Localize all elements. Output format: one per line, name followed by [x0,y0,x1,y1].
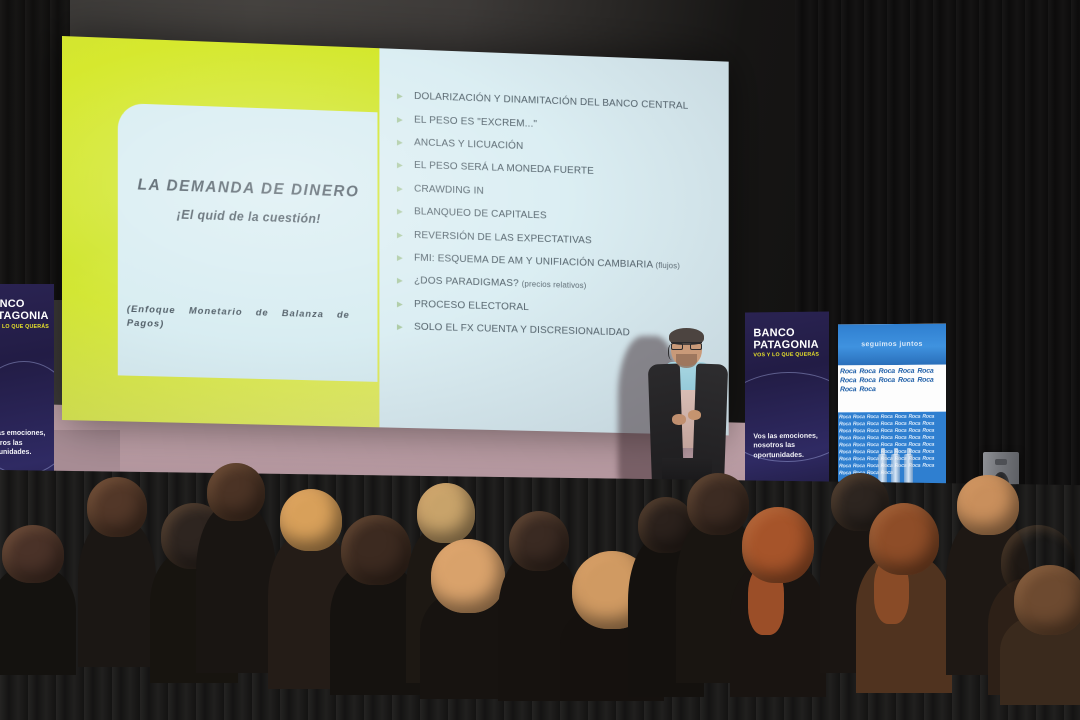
bullet-arrow-icon [397,140,403,146]
audience-member-body [0,567,76,675]
roca-logo: Roca [853,428,865,434]
bullet-text: PROCESO ELECTORAL [414,299,529,313]
patagonia-tagline: VOS Y LO QUE QUERÁS [753,353,819,359]
roca-logo: Roca [867,449,879,455]
bullet-arrow-icon [397,163,403,169]
slide-bullet-item: ¿DOS PARADIGMAS? (precios relativos) [397,275,719,295]
roca-logo: Roca [908,414,920,420]
roca-logo: Roca [898,377,914,384]
roca-logo: Roca [867,421,879,427]
bullet-text: SOLO EL FX CUENTA Y DISCRESIONALIDAD [414,322,630,339]
bullet-text: EL PESO SERÁ LA MONEDA FUERTE [414,160,594,177]
roca-logo: Roca [881,442,893,448]
audience-member [196,463,276,673]
roca-logo: Roca [881,414,893,420]
slide-bullet-item: FMI: ESQUEMA DE AM Y UNIFIACIÓN CAMBIARI… [397,252,719,272]
slide-title-area: LA DEMANDA DE DINERO ¡El quid de la cues… [123,176,373,228]
audience-member-head [417,483,475,543]
roca-logo: Roca [853,421,865,427]
patagonia-tagline: VOS Y LO QUE QUERÁS [0,325,49,331]
roca-logo-grid-white: RocaRocaRocaRocaRocaRocaRocaRocaRocaRoca… [838,365,946,412]
left-curtain [0,0,70,300]
bullet-arrow-icon [397,324,403,330]
bullet-arrow-icon [397,186,403,192]
roca-logo: Roca [922,420,934,426]
presentation-photo-scene: LA DEMANDA DE DINERO ¡El quid de la cues… [0,0,1080,720]
roca-logo: Roca [859,368,875,375]
bullet-arrow-icon [397,117,403,123]
roca-logo: Roca [853,414,865,420]
presenter-beard [676,354,697,368]
audience-member [856,503,952,693]
roca-logo: Roca [908,421,920,427]
bullet-subtext: (flujos) [656,261,681,271]
slide-title-panel [118,103,378,382]
bullet-text: DOLARIZACIÓN Y DINAMITACIÓN DEL BANCO CE… [414,91,688,112]
roca-logo: Roca [881,421,893,427]
roca-logo: Roca [859,386,875,393]
roca-logo: Roca [895,414,907,420]
roca-logo: Roca [881,435,893,441]
roca-logo: Roca [867,414,879,420]
audience [0,455,1080,720]
roca-logo: Roca [840,387,856,394]
audience-member-body [78,520,156,667]
bullet-arrow-icon [397,209,403,215]
slide-bullet-item: CRAWDING IN [397,183,719,204]
slide-bullet-item: BLANQUEO DE CAPITALES [397,206,719,227]
patagonia-message: Vos las emociones, nosotros las oportuni… [0,429,49,457]
roca-logo: Roca [895,435,907,441]
roca-logo: Roca [867,442,879,448]
bullet-text: ANCLAS Y LICUACIÓN [414,137,523,152]
audience-member [1000,565,1080,705]
audience-member [0,525,76,675]
roca-logo: Roca [867,428,879,434]
roca-banner-header: seguimos juntos [838,324,946,366]
roca-logo: Roca [922,413,934,419]
bullet-subtext: (precios relativos) [522,280,587,291]
roca-logo: Roca [867,435,879,441]
audience-member-head [341,515,411,585]
slide-bullet-item: ANCLAS Y LICUACIÓN [397,137,719,159]
roca-logo: Roca [839,414,851,420]
roca-logo: Roca [922,441,934,447]
bullet-text: ¿DOS PARADIGMAS? [414,276,522,290]
roca-logo: Roca [859,377,875,384]
audience-member-body [196,505,276,673]
roca-logo: Roca [895,428,907,434]
audience-member-head [87,477,147,537]
roca-logo: Roca [839,421,851,427]
roca-logo: Roca [922,434,934,440]
bullet-arrow-icon [397,232,403,238]
slide-bullet-list: DOLARIZACIÓN Y DINAMITACIÓN DEL BANCO CE… [397,91,719,353]
bullet-text: FMI: ESQUEMA DE AM Y UNIFIACIÓN CAMBIARI… [414,253,656,271]
roca-logo: Roca [839,428,851,434]
roca-logo: Roca [895,421,907,427]
roca-logo: Roca [840,378,856,385]
audience-member-head [1014,565,1080,635]
roca-logo: Roca [839,442,851,448]
roca-logo: Roca [922,427,934,433]
bullet-arrow-icon [397,94,403,100]
roca-logo: Roca [879,377,895,384]
patagonia-logo: BANCO PATAGONIA VOS Y LO QUE QUERÁS [753,328,819,360]
slide-bullet-item: DOLARIZACIÓN Y DINAMITACIÓN DEL BANCO CE… [397,91,719,114]
roca-logo: Roca [879,368,895,375]
roca-logo: Roca [908,442,920,448]
roca-logo: Roca [839,435,851,441]
presenter-hand-right [688,410,701,420]
slide-bullet-item: PROCESO ELECTORAL [397,298,719,318]
audience-member-head [2,525,64,583]
roca-header-text: seguimos juntos [861,341,923,348]
patagonia-logo-line2: PATAGONIA [0,311,49,323]
roca-logo: Roca [853,435,865,441]
slide-bullet-item: REVERSIÓN DE LAS EXPECTATIVAS [397,229,719,250]
bullet-arrow-icon [397,278,403,284]
audience-member-head [742,507,814,583]
roca-logo: Roca [917,377,933,384]
roca-logo: Roca [853,442,865,448]
audience-member [730,507,826,697]
roca-logo: Roca [840,369,856,376]
roca-logo: Roca [881,428,893,434]
bullet-text: CRAWDING IN [414,183,484,196]
slide-bullet-item: EL PESO ES "EXCREM..." [397,114,719,136]
bullet-text: BLANQUEO DE CAPITALES [414,206,547,221]
bullet-arrow-icon [397,301,403,307]
audience-member-head [869,503,939,575]
bullet-arrow-icon [397,255,403,261]
audience-member [78,477,156,667]
headset-mic-icon [668,344,678,360]
slide-bullet-item: EL PESO SERÁ LA MONEDA FUERTE [397,160,719,182]
presenter-hand-left [672,414,686,425]
audience-member-head [431,539,505,613]
bullet-text: REVERSIÓN DE LAS EXPECTATIVAS [414,230,592,246]
bullet-text: EL PESO ES "EXCREM..." [414,114,537,129]
roca-logo: Roca [917,368,933,375]
roca-logo: Roca [908,435,920,441]
patagonia-logo: BANCO PATAGONIA VOS Y LO QUE QUERÁS [0,299,49,330]
roca-logo: Roca [895,442,907,448]
audience-member-head [207,463,265,521]
roca-logo: Roca [898,368,914,375]
roca-logo: Roca [908,428,920,434]
patagonia-logo-line2: PATAGONIA [753,339,819,351]
